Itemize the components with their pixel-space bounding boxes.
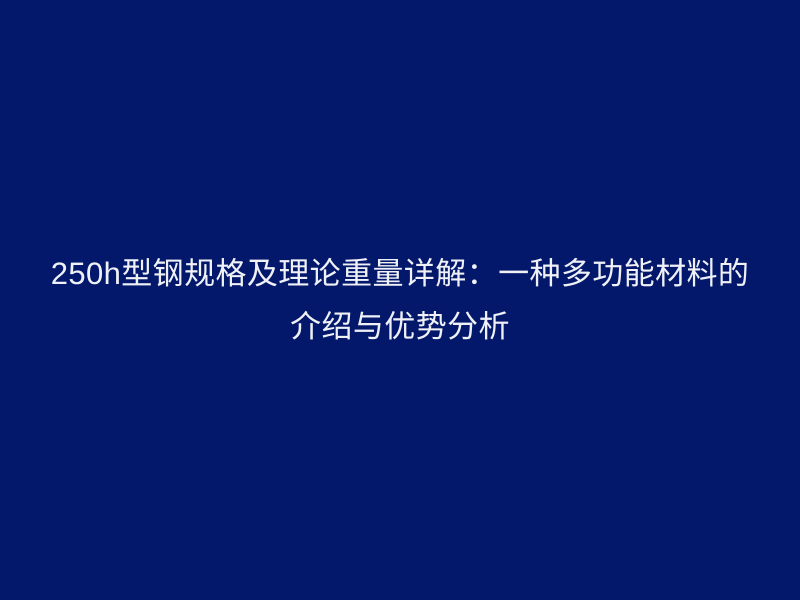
page-title: 250h型钢规格及理论重量详解：一种多功能材料的介绍与优势分析 [40, 247, 760, 353]
title-block: 250h型钢规格及理论重量详解：一种多功能材料的介绍与优势分析 [40, 247, 760, 353]
title-card: 250h型钢规格及理论重量详解：一种多功能材料的介绍与优势分析 [0, 0, 800, 600]
